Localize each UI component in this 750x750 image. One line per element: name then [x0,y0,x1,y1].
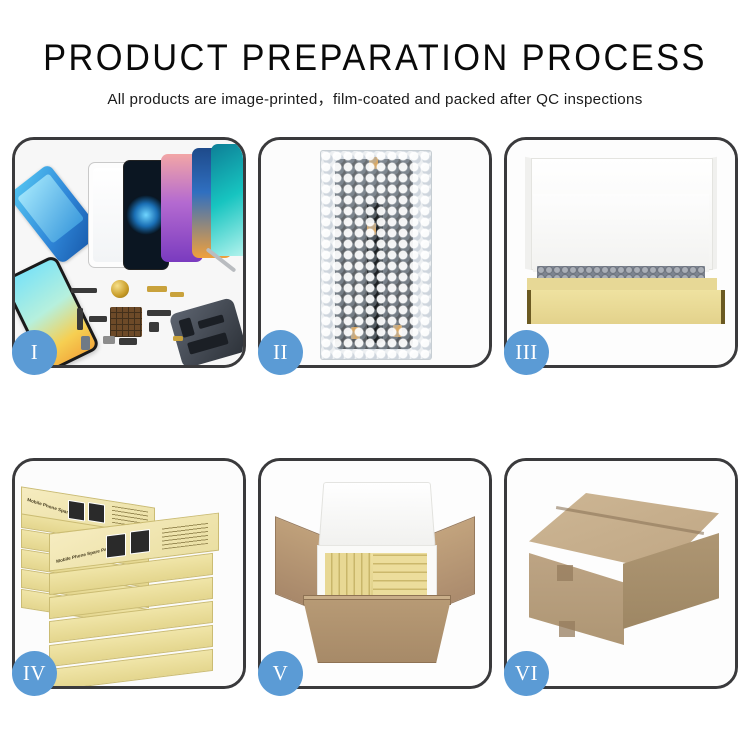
carton-body-icon [303,599,451,663]
coin-icon [111,280,129,298]
bubble-bag-icon [320,150,432,360]
step-6-badge: VI [504,651,549,696]
part-gold-3 [173,336,183,341]
carton-left-face [529,553,624,645]
tape-patch-bottom [559,621,575,637]
kraft-box-icon [527,290,725,324]
page-header: PRODUCT PREPARATION PROCESS All products… [0,0,750,111]
tape-patch-top [557,565,573,581]
step-4-badge: IV [12,651,57,696]
step-1-badge: I [12,330,57,375]
chip-grid-icon [110,307,142,337]
process-step-grid: I II III [12,137,738,689]
step-2-badge: II [258,330,303,375]
part-camera [81,336,90,350]
part-strip-1 [71,288,97,293]
phone-thumbnail-f1 [106,533,126,558]
foam-sheet-icon [533,194,709,272]
process-step-1[interactable]: I [12,137,246,368]
box-label-text-front: Mobile Phone Spare Parts [56,545,113,564]
step-2-image [261,140,489,365]
step-1-image [15,140,243,365]
part-flex-3 [147,310,171,316]
spec-lines-front [162,522,208,550]
yellow-boxes-group-2 [373,553,427,597]
teal-phone-icon [211,144,243,256]
bubble-texture-icon [321,151,431,359]
part-gold-2 [170,292,184,297]
part-grey-1 [103,336,115,344]
phone-thumbnail-f2 [130,529,150,554]
process-step-4[interactable]: Mobile Phone Spare Parts Mobile Phone Sp… [12,458,246,689]
part-chip-1 [149,322,159,332]
part-gold-1 [147,286,167,292]
process-step-3[interactable]: III [504,137,738,368]
step-3-badge: III [504,330,549,375]
process-step-6[interactable]: VI [504,458,738,689]
process-step-2[interactable]: II [258,137,492,368]
phone-back-housing-icon [169,297,243,365]
part-flex-2 [89,316,107,322]
process-step-5[interactable]: V [258,458,492,689]
phone-thumbnail-b1 [68,500,85,522]
yellow-boxes-group-1 [325,553,371,597]
page-title: PRODUCT PREPARATION PROCESS [26,36,724,80]
part-flex-1 [77,308,83,330]
foam-lid-icon [318,482,435,547]
step-3-image [507,140,735,365]
step-6-image [507,461,735,686]
part-strip-2 [119,338,137,345]
yellow-boxes-icon [325,553,427,597]
step-5-image [261,461,489,686]
step-5-badge: V [258,651,303,696]
phone-thumbnail-b2 [88,502,105,524]
box-stack: Mobile Phone Spare Parts Mobile Phone Sp… [15,461,243,686]
page-subtitle: All products are image-printed，film-coat… [0,89,750,111]
step-4-image: Mobile Phone Spare Parts Mobile Phone Sp… [15,461,243,686]
